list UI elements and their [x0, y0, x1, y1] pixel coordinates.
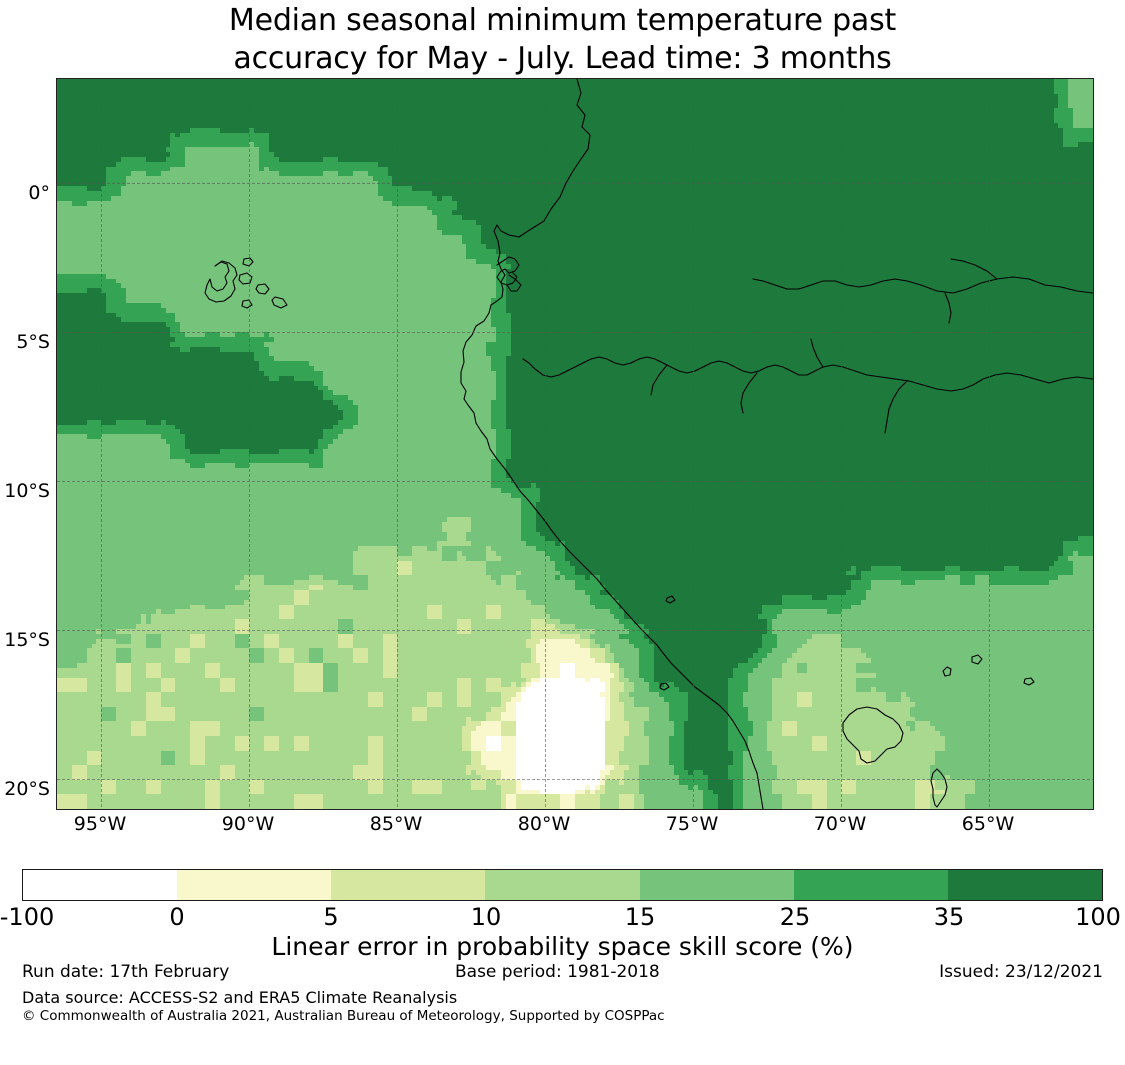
colorbar-segment-2 — [331, 870, 485, 900]
colorbar-segment-1 — [177, 870, 331, 900]
colorbar-segment-6 — [948, 870, 1102, 900]
colorbar-tick-25: 25 — [780, 903, 811, 931]
colorbar-caption: Linear error in probability space skill … — [0, 932, 1125, 961]
colorbar-tick-100: 100 — [1075, 903, 1121, 931]
footer-base-period: Base period: 1981-2018 — [455, 962, 660, 982]
page-title: Median seasonal minimum temperature past… — [0, 0, 1125, 78]
ytick-label-20s: 20°S — [4, 778, 50, 800]
ytick-label-0: 0° — [28, 182, 50, 204]
xtick-label-65w: 65°W — [962, 813, 1014, 835]
ytick-label-10s: 10°S — [4, 480, 50, 502]
ytick-label-5s: 5°S — [16, 331, 50, 353]
colorbar-tick-10: 10 — [471, 903, 502, 931]
colorbar — [22, 869, 1103, 901]
colorbar-segment-0 — [23, 870, 177, 900]
xtick-label-85w: 85°W — [370, 813, 422, 835]
footer-copyright: © Commonwealth of Australia 2021, Austra… — [22, 1008, 665, 1024]
xtick-label-75w: 75°W — [666, 813, 718, 835]
colorbar-tick-5: 5 — [323, 903, 338, 931]
xtick-label-95w: 95°W — [74, 813, 126, 835]
map-gridlines — [57, 79, 1093, 809]
xtick-label-70w: 70°W — [814, 813, 866, 835]
colorbar-segment-5 — [794, 870, 948, 900]
ytick-label-15s: 15°S — [4, 629, 50, 651]
colorbar-tick-35: 35 — [934, 903, 965, 931]
xtick-label-90w: 90°W — [222, 813, 274, 835]
colorbar-tick-0: 0 — [169, 903, 184, 931]
footer-run-date: Run date: 17th February — [22, 962, 229, 982]
xtick-label-80w: 80°W — [518, 813, 570, 835]
footer-data-source: Data source: ACCESS-S2 and ERA5 Climate … — [22, 988, 457, 1007]
colorbar-segment-3 — [485, 870, 639, 900]
colorbar-tick-minus100: -100 — [0, 903, 54, 931]
map-plot-area — [56, 78, 1094, 810]
colorbar-gradient — [22, 869, 1103, 901]
colorbar-tick-15: 15 — [625, 903, 656, 931]
footer-issued-date: Issued: 23/12/2021 — [939, 962, 1103, 982]
footer-row: Run date: 17th February Base period: 198… — [0, 962, 1125, 984]
colorbar-segment-4 — [640, 870, 794, 900]
